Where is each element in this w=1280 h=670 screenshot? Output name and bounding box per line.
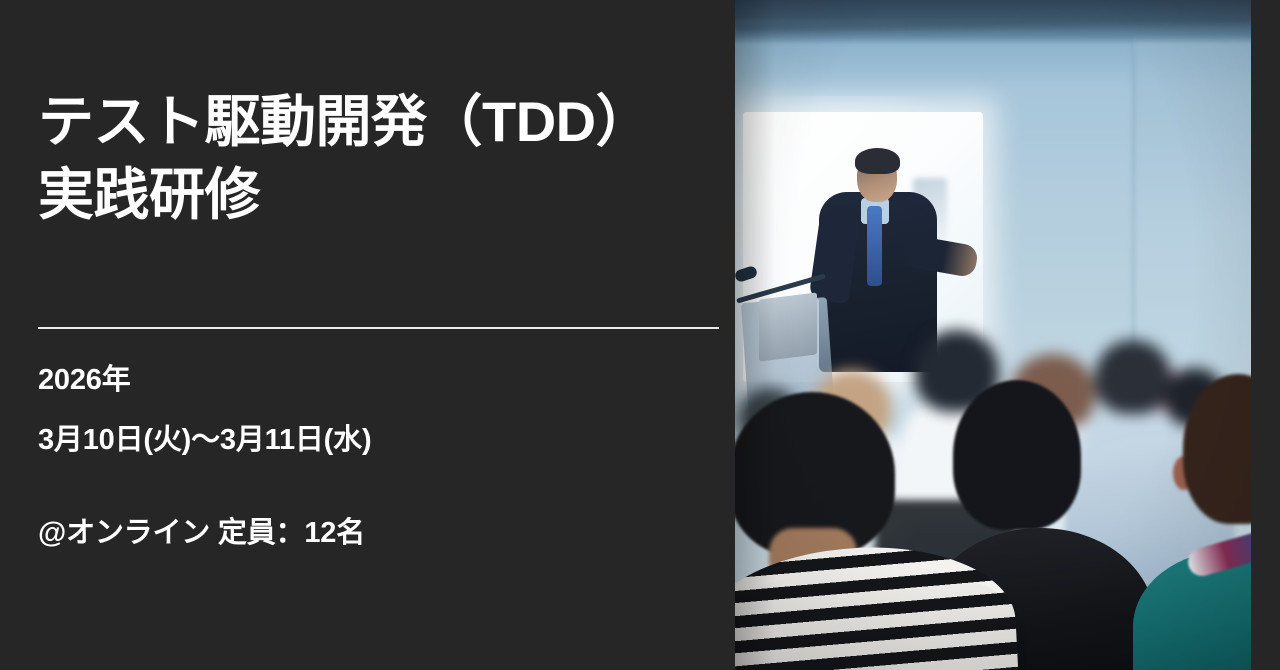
- event-details: 2026年 3月10日(火)〜3月11日(水) @オンライン 定員：12名: [38, 366, 728, 548]
- audience-head: [1095, 340, 1171, 414]
- event-dates: 3月10日(火)〜3月11日(水): [38, 426, 728, 455]
- event-banner: テスト駆動開発（TDD） 実践研修 2026年 3月10日(火)〜3月11日(水…: [0, 0, 1280, 670]
- presenter-tie: [867, 206, 882, 286]
- event-year: 2026年: [38, 366, 728, 395]
- right-edge-strip: [1251, 0, 1280, 670]
- event-title: テスト駆動開発（TDD） 実践研修: [38, 86, 728, 232]
- info-panel: テスト駆動開発（TDD） 実践研修 2026年 3月10日(火)〜3月11日(水…: [0, 0, 735, 670]
- photo-pane: [735, 0, 1251, 670]
- event-venue-capacity: @オンライン 定員：12名: [38, 519, 728, 548]
- title-block: テスト駆動開発（TDD） 実践研修: [38, 86, 728, 232]
- foreground-head-suit: [953, 380, 1081, 530]
- laptop: [759, 292, 817, 361]
- seminar-photo: [735, 0, 1251, 670]
- divider-rule: [38, 327, 719, 329]
- presenter-hair: [855, 148, 900, 174]
